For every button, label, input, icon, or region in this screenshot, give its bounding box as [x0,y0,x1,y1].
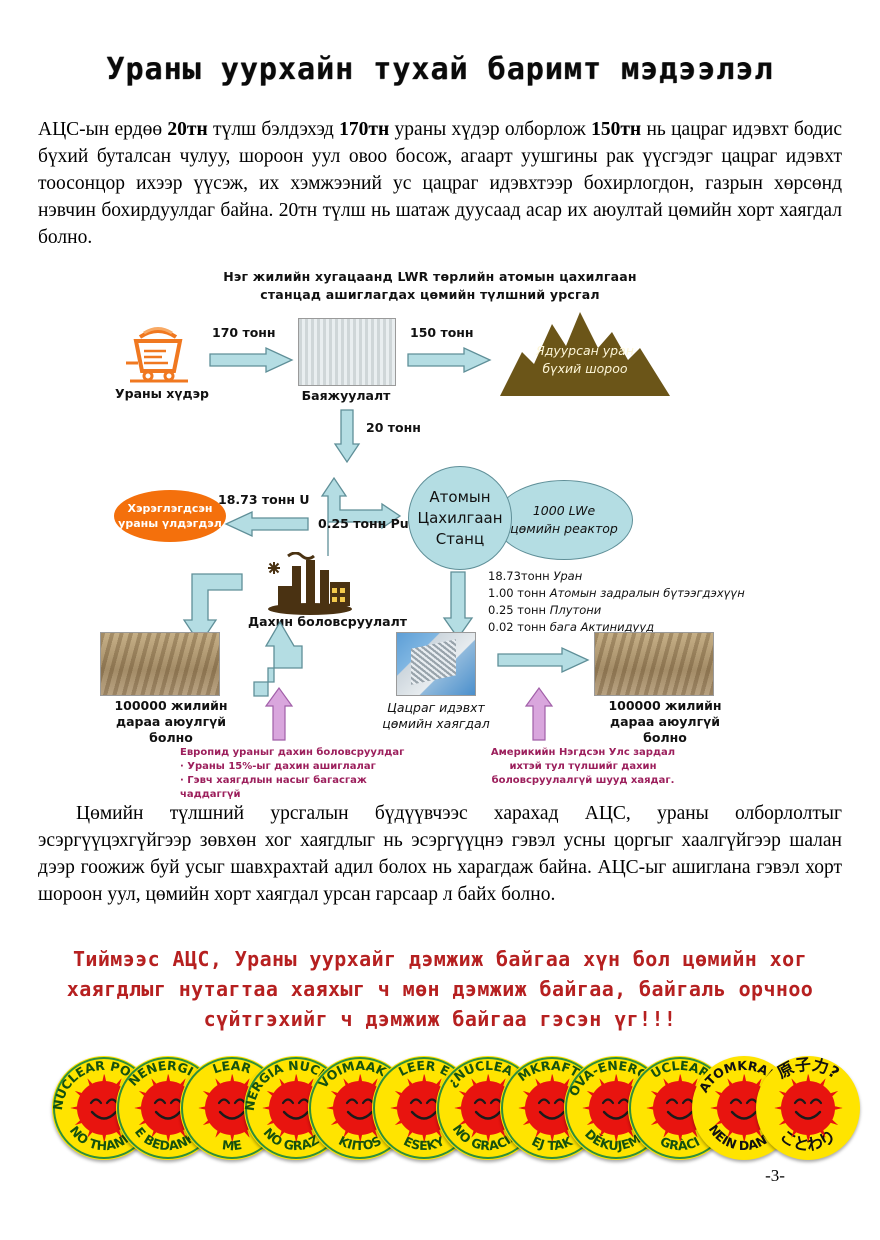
output-amount: 0.25 тонн [488,603,546,617]
intro-text-1: АЦС-ын ердөө [38,119,167,140]
arrow-enrichment-to-tailings [406,346,492,374]
intro-paragraph: АЦС-ын ердөө 20тн түлш бэлдэхэд 170тн ур… [38,116,842,251]
spent-uranium-residue-node: Хэрэглэгдсэн ураны үлдэгдэл [114,490,226,542]
flow-amount-150: 150 тонн [410,325,474,340]
label-safe-right: 100000 жилийн дараа аюулгүй болно [590,698,740,746]
red-conclusion-text: Тиймээс АЦС, Ураны уурхайг дэмжиж байгаа… [30,944,850,1034]
label-radioactive-waste: Цацраг идэвхт цөмийн хаягдал [376,700,496,732]
flow-amount-20: 20 тонн [366,420,421,435]
intro-text-3: ураны хүдэр олборлож [389,119,591,140]
output-row: 18.73тонн Уран [488,568,745,585]
safe-storage-site-photo-left [100,632,220,696]
smiling-sun-icon [781,1081,835,1135]
pink-arrow-europe [264,686,294,742]
intro-bold-20tn: 20тн [167,119,207,140]
uranium-ore-cart-icon [122,323,194,385]
safe-left-line2: дараа аюулгүй болно [96,714,246,746]
analysis-paragraph: Цөмийн түлшний урсгалын бүдүүвчээс харах… [38,800,842,908]
arrow-uranium-return [222,510,310,538]
waste-line1: Цацраг идэвхт [376,700,496,716]
enrichment-facility-photo [298,318,396,386]
intro-bold-150tn: 150тн [591,119,641,140]
reactor-line2: цөмийн реактор [510,520,618,538]
page-title: Ураны уурхайн тухай баримт мэдээлэл [0,52,880,87]
note-europe-line1: Европид ураныг дахин боловсруулдаг [180,746,430,760]
note-usa: Америкийн Нэгдсэн Улс зардал ихтэй тул т… [468,746,698,788]
reprocessing-factory-icon [262,552,358,616]
flow-amount-plutonium-return: 0.25 тонн Pu [318,516,409,531]
diagram-title-line1: Нэг жилийн хугацаанд LWR төрлийн атомын … [180,268,680,286]
flow-amount-170: 170 тонн [212,325,276,340]
spent-uranium-line2: ураны үлдэгдэл [118,516,222,531]
note-usa-line2: ихтэй тул түлшийг дахин [468,760,698,774]
safe-storage-site-photo-right [594,632,714,696]
arrow-enrichment-to-plant [332,408,362,464]
output-label: Атомын задралын бүтээгдэхүүн [550,586,745,600]
arrow-plant-to-waste [442,570,474,640]
note-usa-line3: боловсруулалгүй шууд хаядаг. [468,774,698,788]
label-safe-left: 100000 жилийн дараа аюулгүй болно [96,698,246,746]
page-number: -3- [745,1166,805,1186]
tailings-line1: Ядуурсан уран [500,342,670,360]
nuclear-power-plant-node: Атомын Цахилгаан Станц [408,466,512,570]
output-amount: 18.73тонн [488,569,550,583]
waste-line2: цөмийн хаягдал [376,716,496,732]
arrow-plutonium-return [308,466,404,558]
tailings-label: Ядуурсан уран бүхий шороо [500,342,670,378]
diagram-title-line2: станцад ашиглагдах цөмийн түлшний урсгал [180,286,680,304]
reactor-capacity-node: 1000 LWe цөмийн реактор [495,480,633,560]
safe-right-line1: 100000 жилийн [590,698,740,714]
reactor-outputs-list: 18.73тонн Уран 1.00 тонн Атомын задралын… [488,568,745,636]
intro-text-2: түлш бэлдэхэд [208,119,339,140]
diagram-title: Нэг жилийн хугацаанд LWR төрлийн атомын … [180,268,680,304]
output-label: Уран [553,569,582,583]
arrow-waste-to-storage-right [496,646,590,674]
output-label: Плутони [550,603,602,617]
safe-right-line2: дараа аюулгүй болно [590,714,740,746]
output-row: 0.25 тонн Плутони [488,602,745,619]
pink-arrow-usa [524,686,554,742]
output-amount: 0.02 тонн [488,620,546,634]
safe-left-line1: 100000 жилийн [96,698,246,714]
fuel-cycle-diagram: Нэг жилийн хугацаанд LWR төрлийн атомын … [100,268,780,788]
tailings-line2: бүхий шороо [500,360,670,378]
output-row: 1.00 тонн Атомын задралын бүтээгдэхүүн [488,585,745,602]
depleted-uranium-tailings-mountain: Ядуурсан уран бүхий шороо [500,308,670,396]
anti-nuclear-badge: 原子力?ことわり [756,1056,860,1160]
anti-nuclear-badge-strip: NUCLEAR POWER?NO THANKSNENERGIE?E BEDANK… [52,1056,842,1176]
label-enrichment: Баяжуулалт [290,388,402,404]
page-root: Ураны уурхайн тухай баримт мэдээлэл АЦС-… [0,0,880,1240]
note-europe-line2: · Ураны 15%-ыг дахин ашиглалаг [180,760,430,774]
intro-bold-170tn: 170тн [339,119,389,140]
spent-uranium-line1: Хэрэглэгдсэн [118,501,222,516]
label-uranium-ore: Ураны хүдэр [114,386,210,402]
flow-amount-uranium-return: 18.73 тонн U [218,492,310,507]
radioactive-waste-photo [396,632,476,696]
output-amount: 1.00 тонн [488,586,546,600]
note-europe: Европид ураныг дахин боловсруулдаг · Ура… [180,746,430,802]
note-usa-line1: Америкийн Нэгдсэн Улс зардал [468,746,698,760]
note-europe-line3: · Гэвч хаягдлын насыг багасгаж чаддаггүй [180,774,430,802]
reactor-line1: 1000 LWe [510,502,618,520]
arrow-ore-to-enrichment [208,346,294,374]
